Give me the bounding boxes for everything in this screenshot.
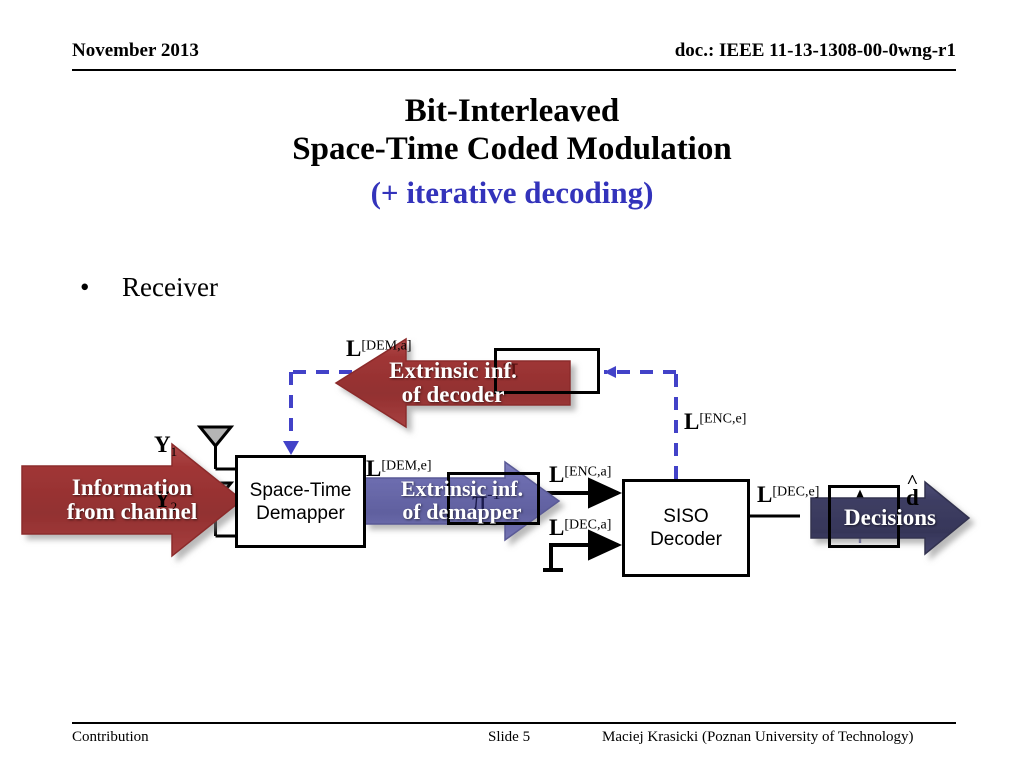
footer-slide-number: Slide 5 bbox=[488, 729, 530, 746]
block-siso-decoder[interactable]: SISO Decoder bbox=[622, 479, 750, 577]
banner-decoder-line-2: of decoder bbox=[402, 382, 505, 407]
label-l-dec-a-sup: [DEC,a] bbox=[564, 518, 611, 533]
demapper-line-1: Space-Time bbox=[250, 480, 352, 501]
banner-demapper-line-1: Extrinsic inf. bbox=[401, 476, 523, 501]
block-space-time-demapper[interactable]: Space-Time Demapper bbox=[235, 455, 366, 548]
bullet-receiver: •Receiver bbox=[80, 272, 218, 303]
label-l-dec-a-base: L bbox=[549, 515, 564, 540]
slide-title: Bit-Interleaved Space-Time Coded Modulat… bbox=[112, 92, 912, 212]
label-l-dec-e-sup: [DEC,e] bbox=[772, 485, 819, 500]
title-line-2: Space-Time Coded Modulation bbox=[292, 131, 731, 167]
feedback-arrowhead-down bbox=[283, 441, 299, 455]
label-l-dem-e-sup: [DEM,e] bbox=[381, 459, 431, 474]
banner-information-line-1: Information bbox=[72, 475, 192, 500]
label-y1-base: Y bbox=[154, 432, 171, 457]
banner-information-from-channel: Information from channel bbox=[22, 444, 242, 556]
label-y1-sub: 1 bbox=[171, 444, 178, 459]
demapper-line-2: Demapper bbox=[256, 503, 345, 524]
feedback-arrowhead-left bbox=[604, 366, 616, 378]
footer-contribution: Contribution bbox=[72, 729, 149, 746]
label-l-dec-e: L[DEC,e] bbox=[757, 482, 819, 508]
label-l-dec-a: L[DEC,a] bbox=[549, 515, 611, 541]
slide-footer: Contribution Slide 5 Maciej Krasicki (Po… bbox=[72, 729, 956, 751]
label-d-hat-accent: ˄ bbox=[906, 477, 919, 485]
header-date: November 2013 bbox=[72, 40, 199, 62]
slide-header: November 2013 doc.: IEEE 11-13-1308-00-0… bbox=[72, 40, 956, 68]
slide-canvas: November 2013 doc.: IEEE 11-13-1308-00-0… bbox=[0, 0, 1024, 768]
label-l-dem-a-sup: [DEM,a] bbox=[361, 339, 411, 354]
siso-line-1: SISO bbox=[663, 506, 708, 527]
label-l-dem-a-base: L bbox=[346, 336, 361, 361]
header-document-id: doc.: IEEE 11-13-1308-00-0wng-r1 bbox=[675, 40, 956, 62]
label-l-enc-e: L[ENC,e] bbox=[684, 409, 746, 435]
header-divider bbox=[72, 69, 956, 71]
banner-information-line-2: from channel bbox=[67, 499, 198, 524]
banner-decoder-line-1: Extrinsic inf. bbox=[389, 358, 517, 383]
label-l-enc-a-sup: [ENC,a] bbox=[564, 465, 611, 480]
label-l-dec-e-base: L bbox=[757, 482, 772, 507]
label-y1: Y1 bbox=[154, 432, 177, 460]
bullet-label: Receiver bbox=[122, 272, 218, 302]
banner-decisions: Decisions bbox=[811, 482, 969, 554]
title-line-1: Bit-Interleaved bbox=[405, 93, 619, 129]
label-l-enc-a-base: L bbox=[549, 462, 564, 487]
siso-line-2: Decoder bbox=[650, 529, 722, 550]
banner-decisions-line-1: Decisions bbox=[844, 505, 936, 530]
bullet-marker: • bbox=[80, 272, 122, 303]
label-l-enc-a: L[ENC,a] bbox=[549, 462, 611, 488]
label-l-enc-e-sup: [ENC,e] bbox=[699, 412, 746, 427]
footer-divider bbox=[72, 722, 956, 724]
label-l-enc-e-base: L bbox=[684, 409, 699, 434]
label-l-dem-e-base: L bbox=[366, 456, 381, 481]
wire-dec-a bbox=[551, 545, 618, 570]
banner-demapper-line-2: of demapper bbox=[402, 499, 521, 524]
footer-author: Maciej Krasicki (Poznan University of Te… bbox=[602, 729, 914, 746]
title-line-3: (+ iterative decoding) bbox=[112, 174, 912, 212]
